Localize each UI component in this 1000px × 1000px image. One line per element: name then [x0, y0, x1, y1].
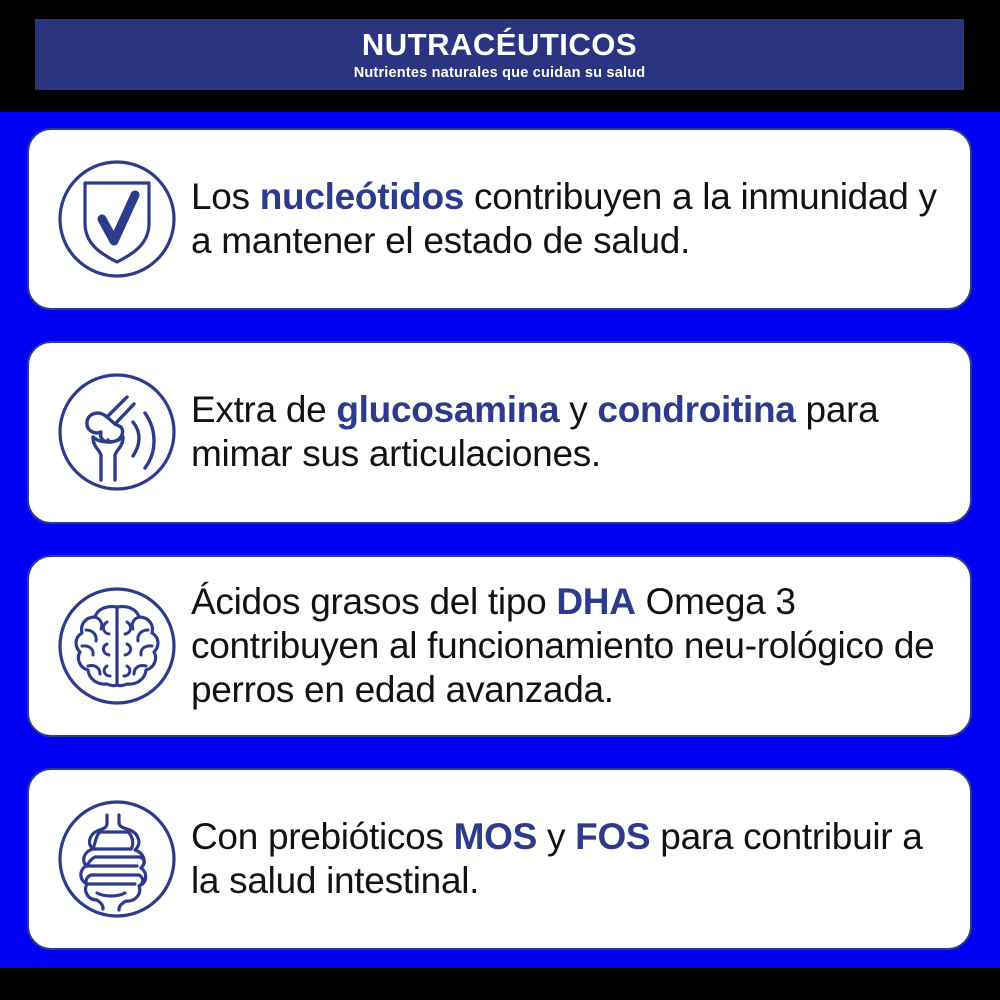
page-subtitle: Nutrientes naturales que cuidan su salud	[354, 65, 646, 82]
benefits-panel: Los nucleótidos contribuyen a la inmunid…	[0, 112, 1000, 968]
highlight-term: nucleótidos	[260, 176, 464, 217]
highlight-term-2: condroitina	[597, 389, 795, 430]
benefit-card-prebioticos: Con prebióticos MOS y FOS para contribui…	[27, 768, 972, 950]
nutraceuticals-infographic: NUTRACÉUTICOS Nutrientes naturales que c…	[0, 0, 1000, 1000]
text-segment: Ácidos grasos del tipo	[191, 581, 556, 622]
benefit-text-nucleotidos: Los nucleótidos contribuyen a la inmunid…	[183, 175, 956, 263]
intestine-icon	[51, 793, 183, 925]
text-segment: Con prebióticos	[191, 816, 454, 857]
benefit-card-dha: Ácidos grasos del tipo DHA Omega 3 contr…	[27, 555, 972, 737]
text-segment: y	[559, 389, 597, 430]
header-banner: NUTRACÉUTICOS Nutrientes naturales que c…	[35, 19, 964, 90]
benefit-card-articulaciones: Extra de glucosamina y condroitina para …	[27, 341, 972, 523]
highlight-term: glucosamina	[336, 389, 559, 430]
benefit-card-nucleotidos: Los nucleótidos contribuyen a la inmunid…	[27, 128, 972, 310]
text-segment: Extra de	[191, 389, 336, 430]
benefit-text-dha: Ácidos grasos del tipo DHA Omega 3 contr…	[183, 580, 956, 712]
highlight-term: DHA	[556, 581, 635, 622]
joint-bone-icon	[51, 366, 183, 498]
highlight-term: MOS	[454, 816, 537, 857]
text-segment: Los	[191, 176, 260, 217]
shield-check-icon	[51, 153, 183, 285]
benefit-text-articulaciones: Extra de glucosamina y condroitina para …	[183, 388, 956, 476]
highlight-term-2: FOS	[575, 816, 650, 857]
benefit-text-prebioticos: Con prebióticos MOS y FOS para contribui…	[183, 815, 956, 903]
page-title: NUTRACÉUTICOS	[362, 29, 637, 62]
text-segment: y	[537, 816, 575, 857]
brain-icon	[51, 580, 183, 712]
